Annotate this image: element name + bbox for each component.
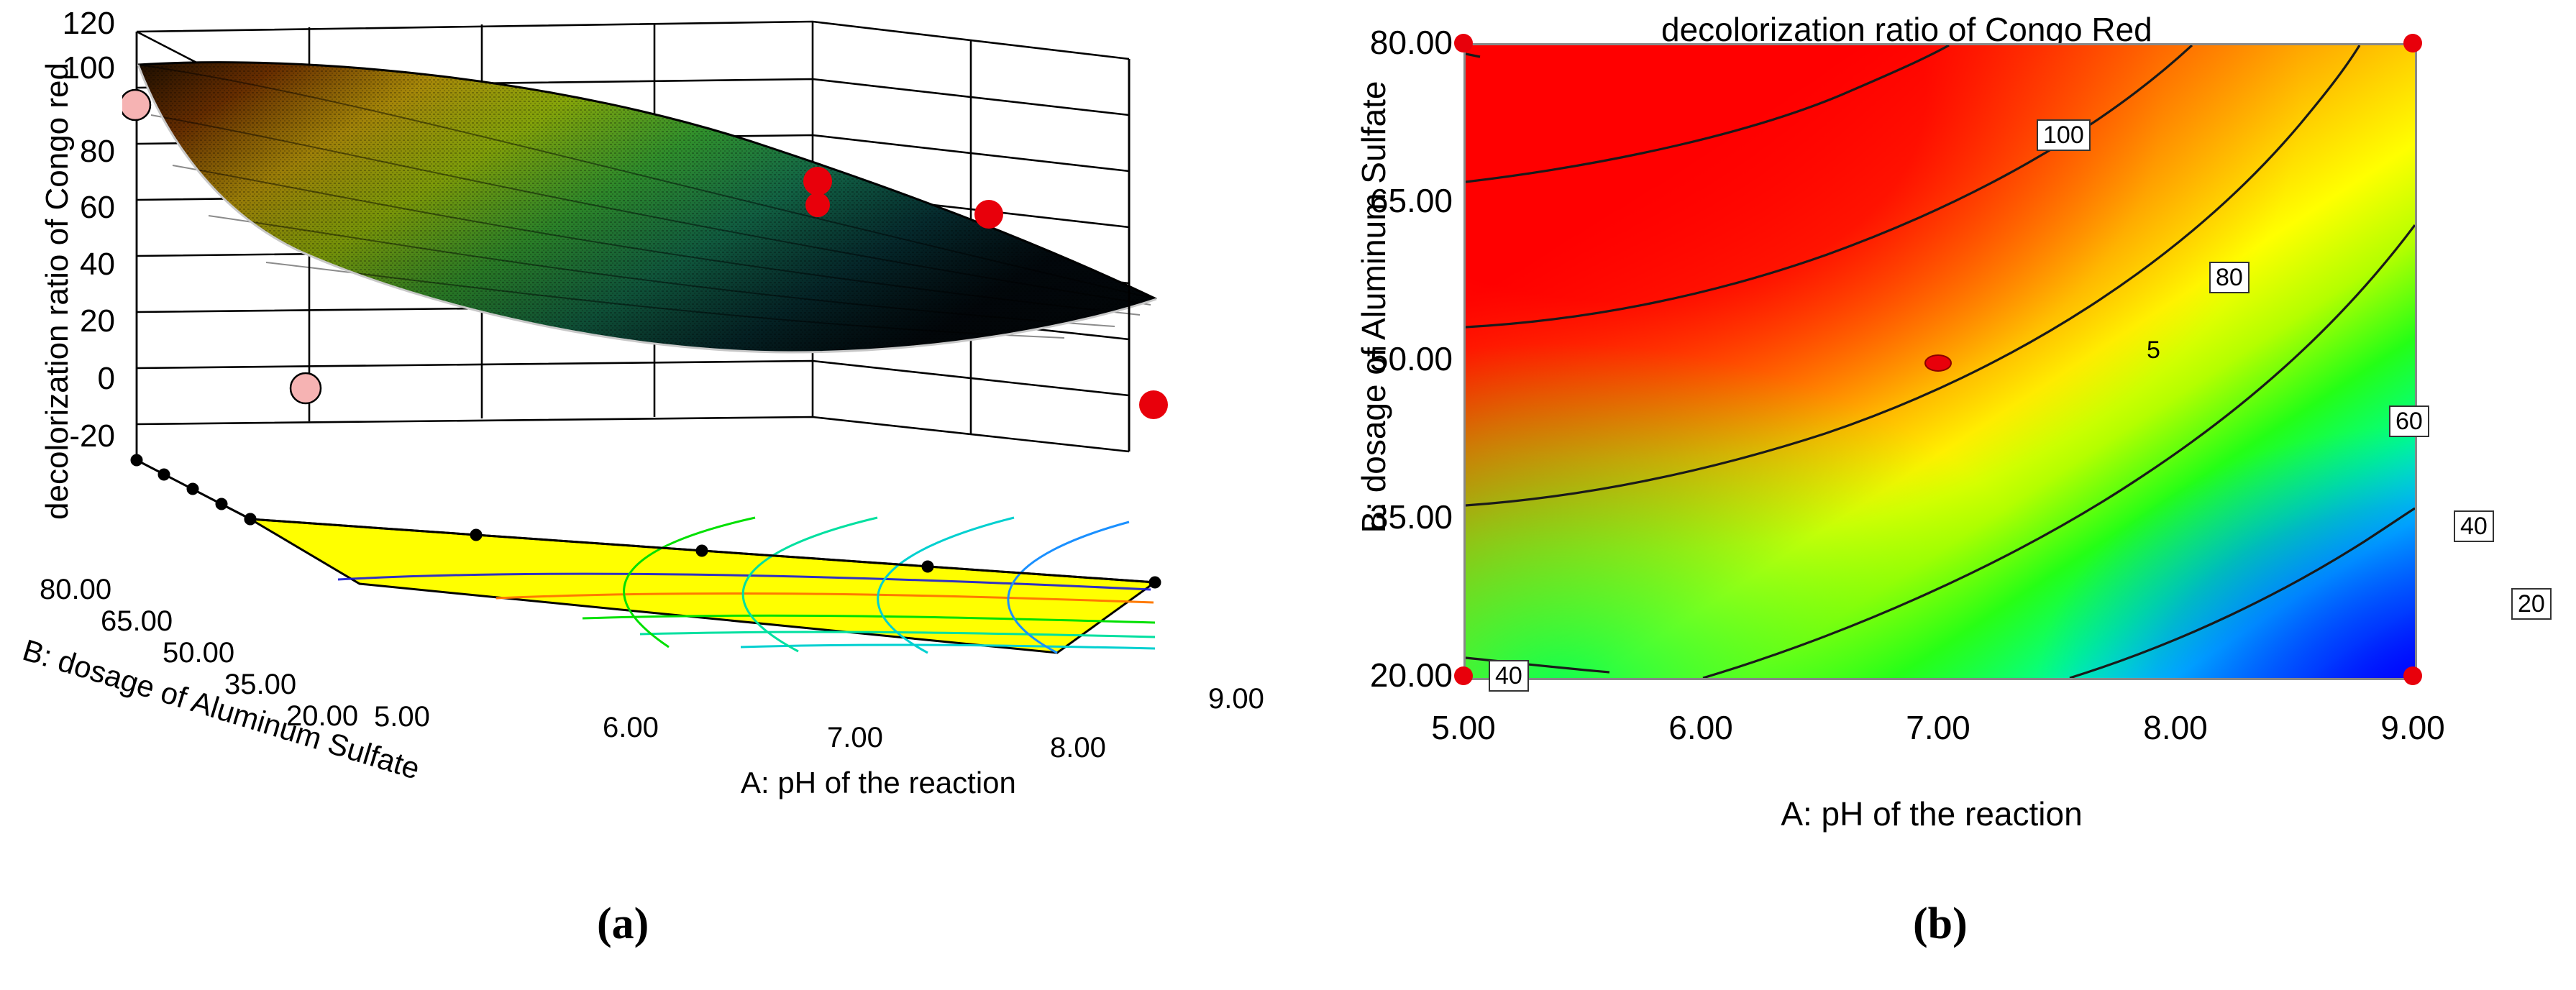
panel-a-ztick-60: 60 xyxy=(7,190,115,226)
contour-label-40: 40 xyxy=(2454,510,2494,542)
panel-b-corner-point-bottom-right xyxy=(2403,666,2422,685)
contour-label-60: 60 xyxy=(2389,405,2429,437)
panel-b-xtick-9: 9.00 xyxy=(2341,708,2485,747)
design-point-6 xyxy=(1139,390,1168,419)
panel-b-corner-point-top-left xyxy=(1454,34,1473,52)
panel-b-point-count-label: 5 xyxy=(2147,336,2160,365)
panel-a-ytick-65: 65.00 xyxy=(101,605,173,638)
panel-a-xtick-8: 8.00 xyxy=(1050,732,1106,764)
design-point-1 xyxy=(122,90,150,120)
panel-a-ztick-neg20: -20 xyxy=(7,418,115,454)
caption-b: (b) xyxy=(1913,899,1968,950)
contour-label-100: 100 xyxy=(2037,119,2091,151)
panel-a-xtick-5: 5.00 xyxy=(374,701,430,733)
panel-b-xtick-6: 6.00 xyxy=(1629,708,1773,747)
figure-container: decolorization ratio of Congo red 120 10… xyxy=(0,0,2576,990)
panel-a-ztick-100: 100 xyxy=(7,50,115,86)
panel-a-xtick-9: 9.00 xyxy=(1208,683,1264,715)
panel-a-ztick-120: 120 xyxy=(7,6,115,42)
panel-b-xtick-5: 5.00 xyxy=(1392,708,1535,747)
panel-b-xtick-7: 7.00 xyxy=(1866,708,2010,747)
panel-a-ztick-0: 0 xyxy=(7,361,115,397)
contour-label-80: 80 xyxy=(2209,262,2250,293)
panel-a-ytick-80: 80.00 xyxy=(40,574,111,606)
panel-a-xtick-6: 6.00 xyxy=(603,712,659,744)
panel-b-corner-point-bottom-left xyxy=(1454,666,1473,685)
panel-a-3d-surface: decolorization ratio of Congo red 120 10… xyxy=(0,0,1287,892)
design-point-4 xyxy=(974,200,1003,229)
panel-a-ztick-20: 20 xyxy=(7,303,115,339)
panel-b-ytick-65: 65.00 xyxy=(1287,181,1453,220)
panel-b-x-axis-title: A: pH of the reaction xyxy=(1287,794,2576,833)
panel-b-ytick-50: 50.00 xyxy=(1287,339,1453,378)
panel-a-floor-plate xyxy=(248,518,1156,676)
panel-a-ztick-40: 40 xyxy=(7,247,115,283)
design-point-3 xyxy=(805,193,830,217)
panel-b-center-design-point xyxy=(1925,355,1951,371)
panel-a-ytick-50: 50.00 xyxy=(163,637,234,669)
panel-a-x-axis-title: A: pH of the reaction xyxy=(741,766,1016,800)
caption-a: (a) xyxy=(597,899,649,950)
panel-b-ytick-80: 80.00 xyxy=(1287,23,1453,62)
contour-label-40-left: 40 xyxy=(1489,660,1529,692)
panel-b-xtick-8: 8.00 xyxy=(2104,708,2247,747)
contour-label-20: 20 xyxy=(2511,588,2552,620)
panel-a-z-axis-title: decolorization ratio of Congo red xyxy=(40,18,76,564)
panel-b-corner-point-top-right xyxy=(2403,34,2422,52)
design-point-2 xyxy=(803,167,832,196)
design-point-5 xyxy=(291,373,321,403)
panel-b-ytick-20: 20.00 xyxy=(1287,656,1453,695)
panel-b-contour-svg xyxy=(1463,43,2417,680)
panel-b-contour: decolorization ratio of Congo Red B: dos… xyxy=(1287,0,2576,892)
panel-a-ztick-80: 80 xyxy=(7,134,115,170)
panel-a-xtick-7: 7.00 xyxy=(827,722,883,754)
panel-b-ytick-35: 35.00 xyxy=(1287,498,1453,536)
